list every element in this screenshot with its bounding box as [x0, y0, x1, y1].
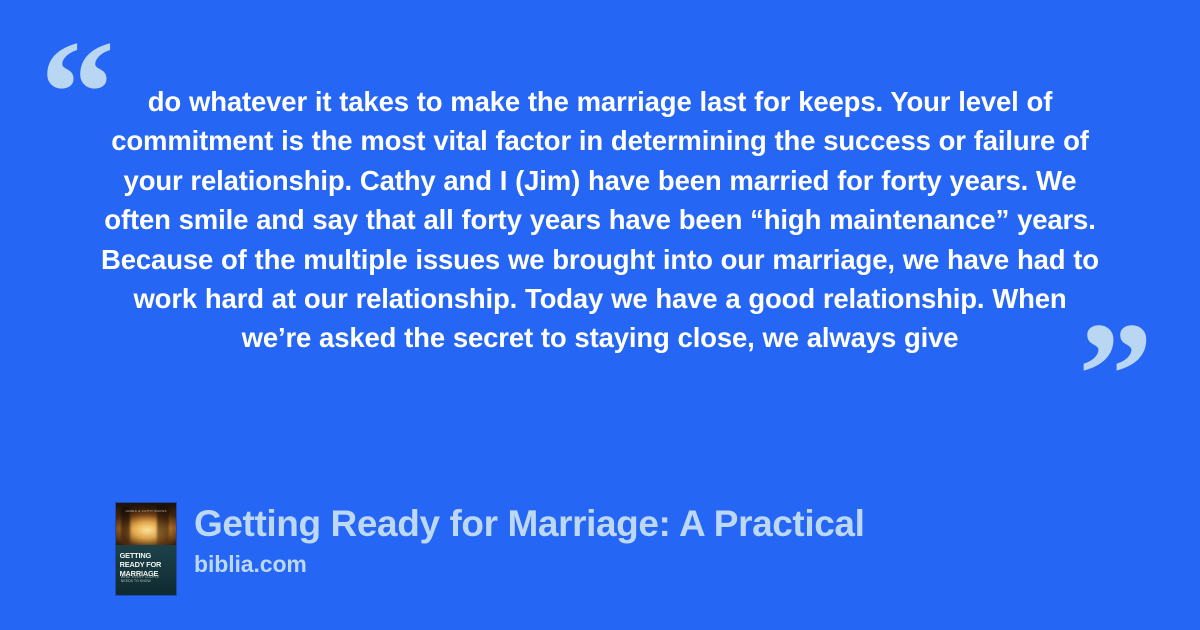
book-cover-thumbnail[interactable]: James & Cathy Burns Getting Ready for Ma… [116, 503, 176, 595]
footer-text-group: Getting Ready for Marriage: A Practical … [194, 503, 864, 577]
book-cover-subtitle: What Every Couple Needs to Know [121, 575, 171, 584]
close-quote-icon: ” [1078, 300, 1153, 450]
quote-text: do whatever it takes to make the marriag… [100, 82, 1100, 358]
quote-card: “ do whatever it takes to make the marri… [0, 0, 1200, 630]
footer-attribution: James & Cathy Burns Getting Ready for Ma… [116, 503, 864, 595]
book-title[interactable]: Getting Ready for Marriage: A Practical [194, 503, 864, 545]
book-cover-byline: James & Cathy Burns [116, 509, 176, 513]
site-name[interactable]: biblia.com [194, 551, 864, 577]
